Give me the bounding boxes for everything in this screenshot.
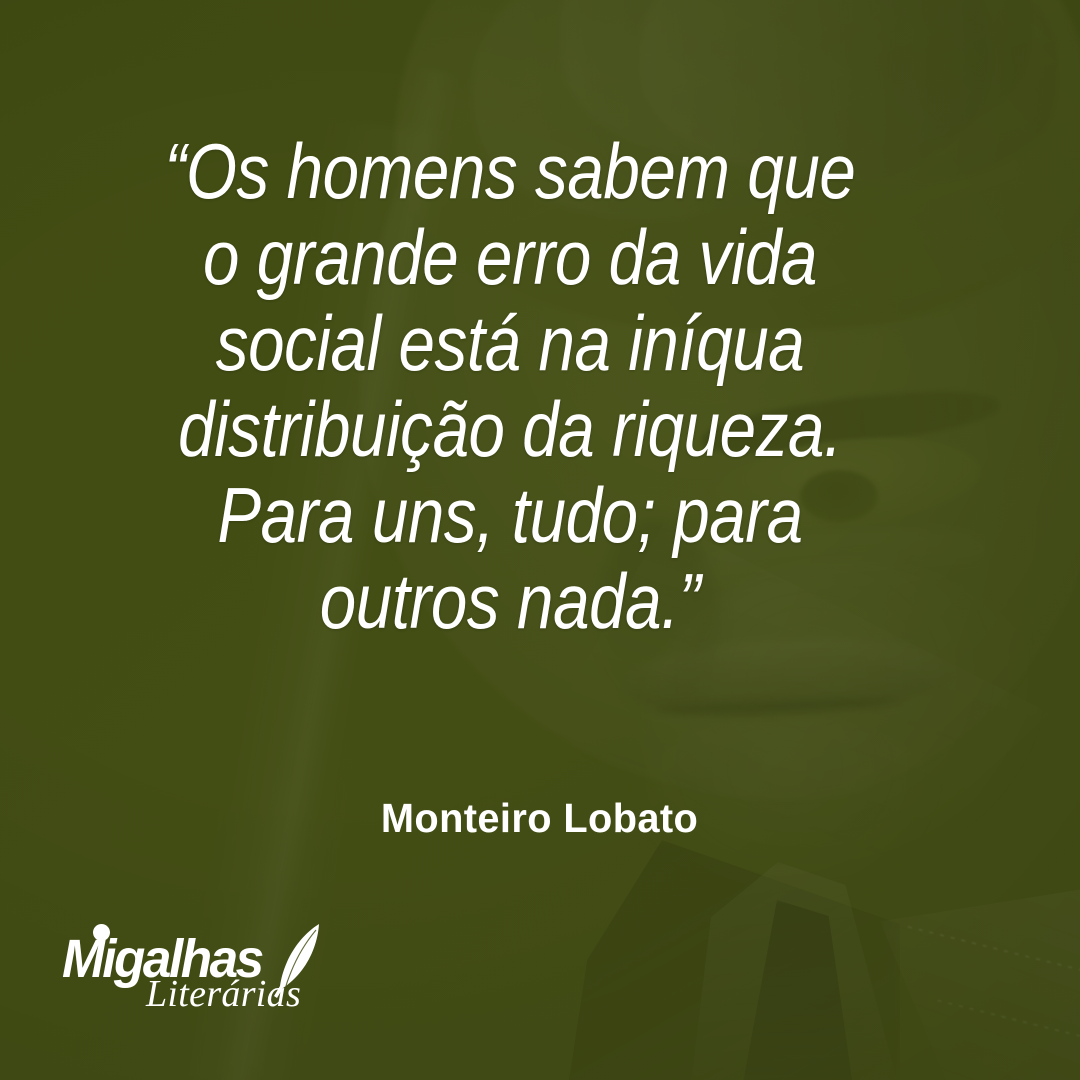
author-attribution: Monteiro Lobato: [0, 795, 1080, 842]
logo-dot-accent: [93, 924, 110, 941]
quote-line: o grande erro da vida: [157, 214, 863, 300]
quote-line: “Os homens sabem que: [157, 128, 863, 214]
quote-text: “Os homens sabem que o grande erro da vi…: [90, 128, 930, 644]
card-content: “Os homens sabem que o grande erro da vi…: [0, 0, 1080, 1080]
migalhas-literarias-logo[interactable]: Migalhas Literárias: [62, 922, 322, 1026]
quote-line: distribuição da riqueza.: [157, 386, 863, 472]
quote-card: “Os homens sabem que o grande erro da vi…: [0, 0, 1080, 1080]
author-name: Monteiro Lobato: [381, 795, 698, 842]
quote-line: outros nada.”: [157, 558, 863, 644]
logo-subtext: Literárias: [146, 972, 301, 1016]
quote-line: Para uns, tudo; para: [157, 472, 863, 558]
quote-line: social está na iníqua: [157, 300, 863, 386]
